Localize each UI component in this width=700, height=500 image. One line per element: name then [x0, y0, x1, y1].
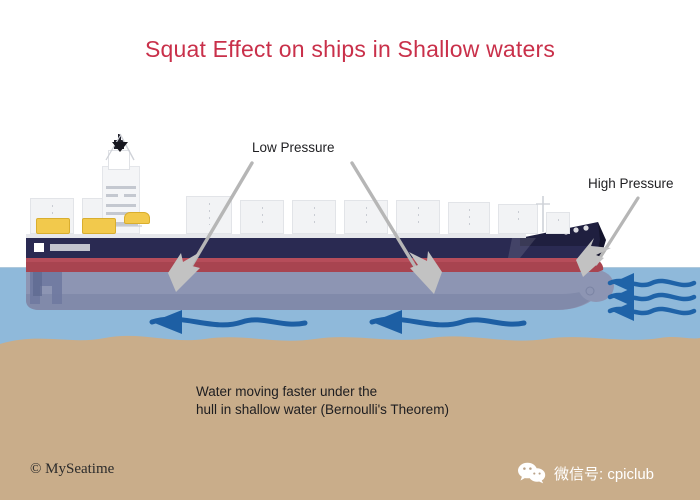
wechat-badge: 微信号: cpiclub	[517, 462, 654, 484]
pointer-arrows-layer	[0, 0, 700, 500]
wechat-id-text: 微信号: cpiclub	[554, 463, 654, 484]
low-pressure-label: Low Pressure	[252, 140, 335, 155]
low-pressure-arrow-aft	[168, 163, 252, 292]
wechat-icon	[517, 462, 547, 484]
diagram-caption: Water moving faster under the hull in sh…	[196, 383, 449, 419]
illustration-canvas: Squat Effect on ships in Shallow waters	[0, 0, 700, 500]
low-pressure-arrow-mid	[352, 163, 442, 294]
copyright-text: © MySeatime	[30, 461, 114, 478]
high-pressure-arrow	[576, 198, 638, 277]
high-pressure-label: High Pressure	[588, 176, 674, 191]
